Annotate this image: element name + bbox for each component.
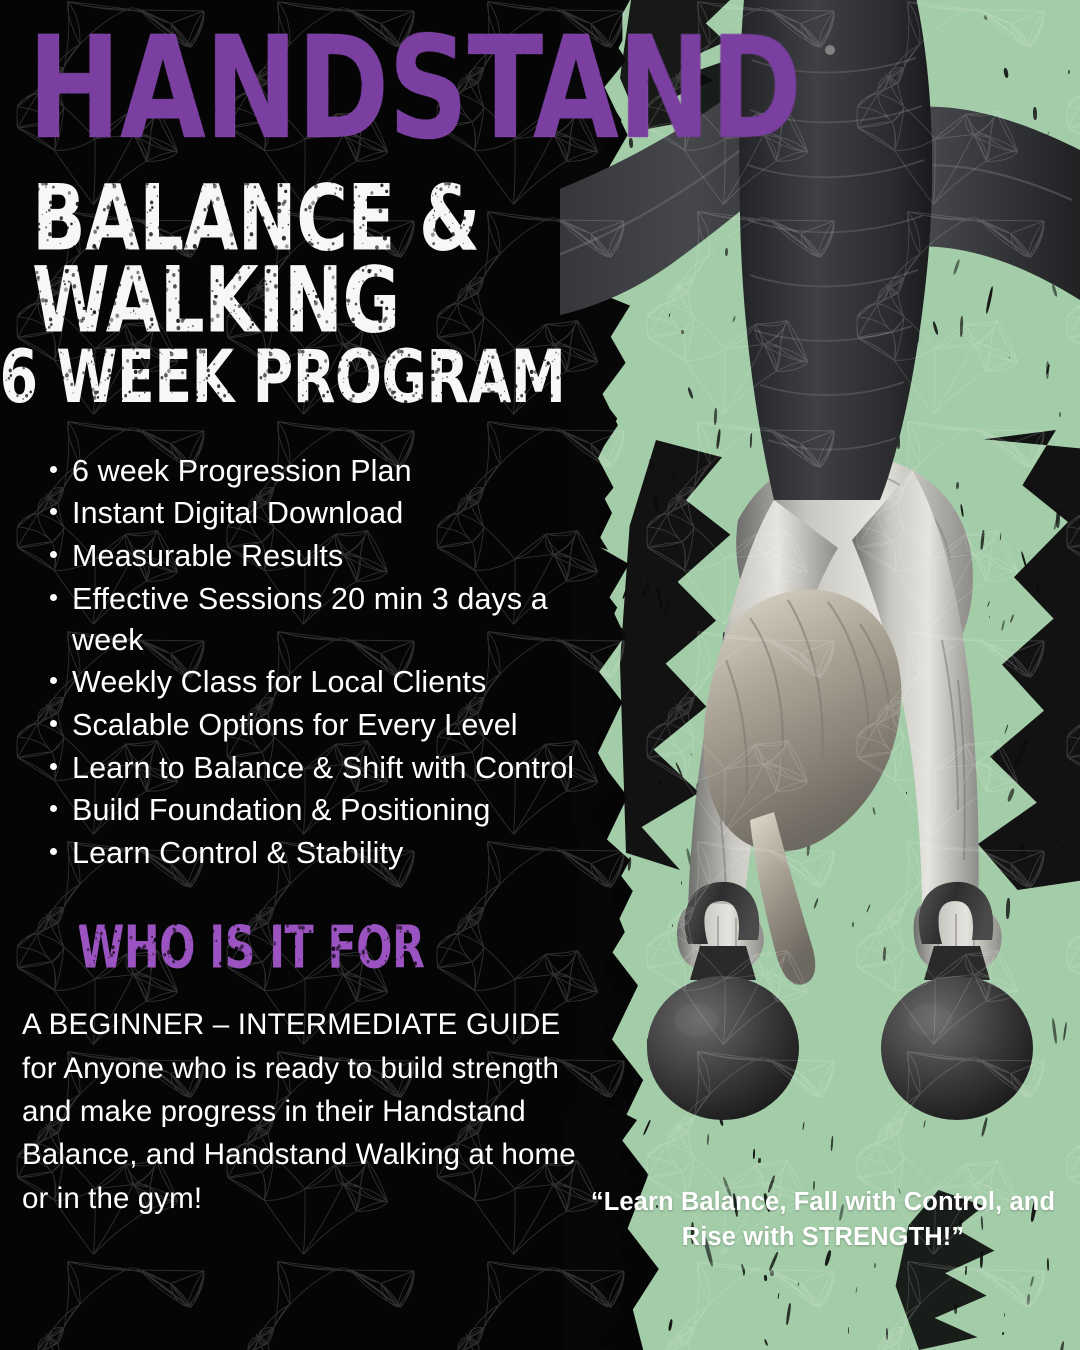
paint-fleck (836, 362, 840, 366)
paint-fleck (743, 1268, 745, 1276)
paint-fleck (897, 436, 900, 449)
paint-fleck (764, 1275, 767, 1281)
paint-fleck (956, 947, 961, 954)
paint-fleck (633, 1079, 639, 1087)
paint-fleck (770, 1270, 774, 1276)
feature-list-item: Weekly Class for Local Clients (48, 662, 613, 703)
audience-line-1: A BEGINNER – INTERMEDIATE GUIDE (22, 1003, 602, 1046)
paint-fleck (806, 589, 810, 607)
title-subheading: BALANCE & WALKING (32, 178, 691, 342)
feature-list-item: Learn Control & Stability (48, 833, 613, 874)
feature-list-item: Effective Sessions 20 min 3 days a week (48, 579, 613, 660)
who-is-it-for-body: A BEGINNER – INTERMEDIATE GUIDE for Anyo… (22, 1003, 602, 1220)
paint-fleck (659, 781, 663, 786)
paint-fleck (954, 1303, 957, 1314)
poster-canvas: HANDSTAND BALANCE & WALKING 6 WEEK PROGR… (0, 0, 1080, 1350)
audience-line-2: for Anyone who is ready to build strengt… (22, 1047, 602, 1220)
feature-list-item: Build Foundation & Positioning (48, 790, 613, 831)
paint-fleck (1056, 510, 1060, 528)
feature-list-item: Instant Digital Download (48, 493, 613, 534)
paint-fleck (956, 482, 959, 489)
paint-fleck (623, 1102, 627, 1114)
feature-list-item: Measurable Results (48, 536, 613, 577)
paint-fleck (882, 211, 886, 216)
title-program-length: 6 WEEK PROGRAM (0, 346, 650, 412)
feature-list-item: 6 week Progression Plan (48, 451, 613, 492)
paint-fleck (902, 491, 906, 520)
who-is-it-for-heading: WHO IS IT FOR (0, 922, 644, 975)
feature-list-item: Scalable Options for Every Level (48, 705, 613, 746)
content-column: HANDSTAND BALANCE & WALKING 6 WEEK PROGR… (0, 0, 620, 1350)
paint-fleck (655, 609, 658, 613)
tagline-quote: “Learn Balance, Fall with Control, and R… (588, 1185, 1058, 1255)
page-title: HANDSTAND (28, 26, 656, 153)
feature-list: 6 week Progression PlanInstant Digital D… (48, 451, 613, 874)
feature-list-item: Learn to Balance & Shift with Control (48, 748, 613, 789)
paint-fleck (886, 1328, 888, 1340)
paint-fleck (725, 248, 728, 256)
paint-fleck (758, 1158, 761, 1163)
paint-fleck (1033, 107, 1037, 120)
